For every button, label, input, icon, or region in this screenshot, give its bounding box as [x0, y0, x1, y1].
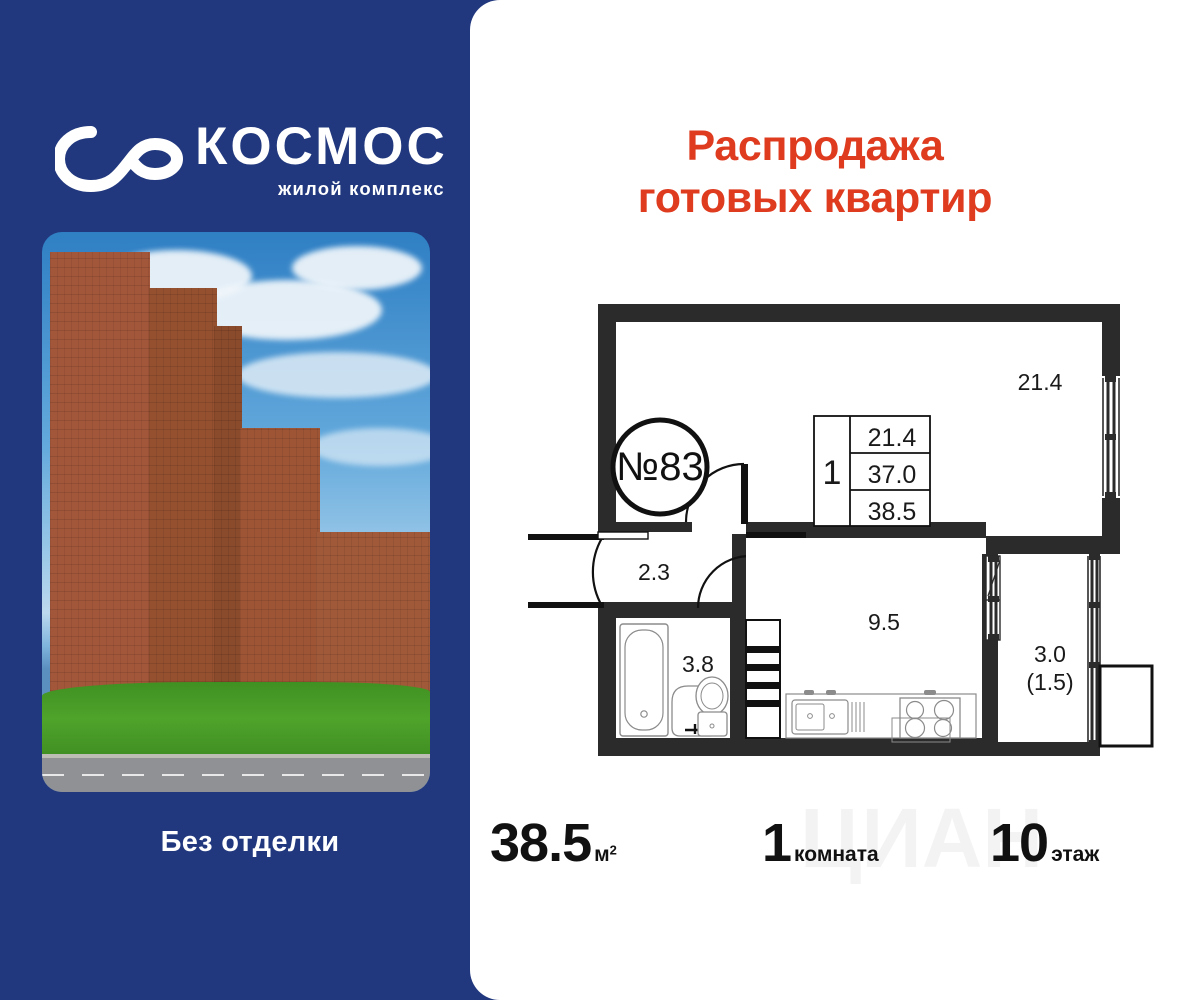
stat-area: 38.5м2 [490, 812, 617, 874]
brand-panel: КОСМОС жилой комплекс Без отделки [0, 0, 500, 1000]
svg-text:1: 1 [823, 454, 842, 492]
lawn [42, 682, 430, 764]
apartment-number-badge: №83 [613, 420, 707, 514]
svg-text:37.0: 37.0 [868, 461, 917, 489]
kitchen-counter [786, 690, 976, 742]
stove-icon [892, 698, 960, 742]
infinity-icon [55, 126, 183, 192]
stat-floor-unit: этаж [1051, 843, 1099, 866]
stat-rooms: 1комната [762, 812, 879, 874]
brand-text: КОСМОС жилой комплекс [195, 118, 448, 200]
brand-logo: КОСМОС жилой комплекс [55, 118, 455, 208]
room-label-balcony-coef: (1.5) [1026, 669, 1073, 695]
floor-plan: 21.4 2.3 3.8 9.5 3.0 (1.5) №83 1 [520, 290, 1160, 770]
stat-rooms-unit: комната [794, 843, 879, 866]
promo-title: Распродажа готовых квартир [470, 120, 1160, 224]
promo-title-line1: Распродажа [470, 120, 1160, 172]
brand-tagline: жилой комплекс [195, 178, 448, 200]
svg-text:21.4: 21.4 [868, 424, 917, 452]
room-label-hall: 2.3 [638, 559, 670, 585]
stat-floor: 10этаж [990, 812, 1099, 874]
apartment-stats: 38.5м2 1комната 10этаж [490, 812, 1190, 892]
room-label-bathroom: 3.8 [682, 651, 714, 677]
stat-area-unit: м [594, 843, 610, 866]
svg-text:38.5: 38.5 [868, 498, 917, 526]
stat-area-value: 38.5 [490, 813, 591, 873]
bathtub-icon [620, 624, 668, 736]
svg-text:№83: №83 [616, 445, 703, 489]
stat-floor-value: 10 [990, 813, 1048, 873]
stat-area-unit-sup: 2 [610, 843, 617, 858]
toilet-icon [696, 677, 728, 736]
stat-rooms-value: 1 [762, 813, 791, 873]
room-label-kitchen: 9.5 [868, 609, 900, 635]
content-card: Распродажа готовых квартир [470, 0, 1200, 1000]
photo-caption: Без отделки [0, 826, 500, 859]
road [42, 758, 430, 792]
brand-name: КОСМОС [195, 118, 448, 176]
promo-title-line2: готовых квартир [470, 172, 1160, 224]
room-label-balcony: 3.0 [1034, 641, 1066, 667]
residential-complex-photo [42, 232, 430, 792]
room-label-living: 21.4 [1018, 369, 1063, 395]
wardrobe-icon [746, 620, 780, 738]
